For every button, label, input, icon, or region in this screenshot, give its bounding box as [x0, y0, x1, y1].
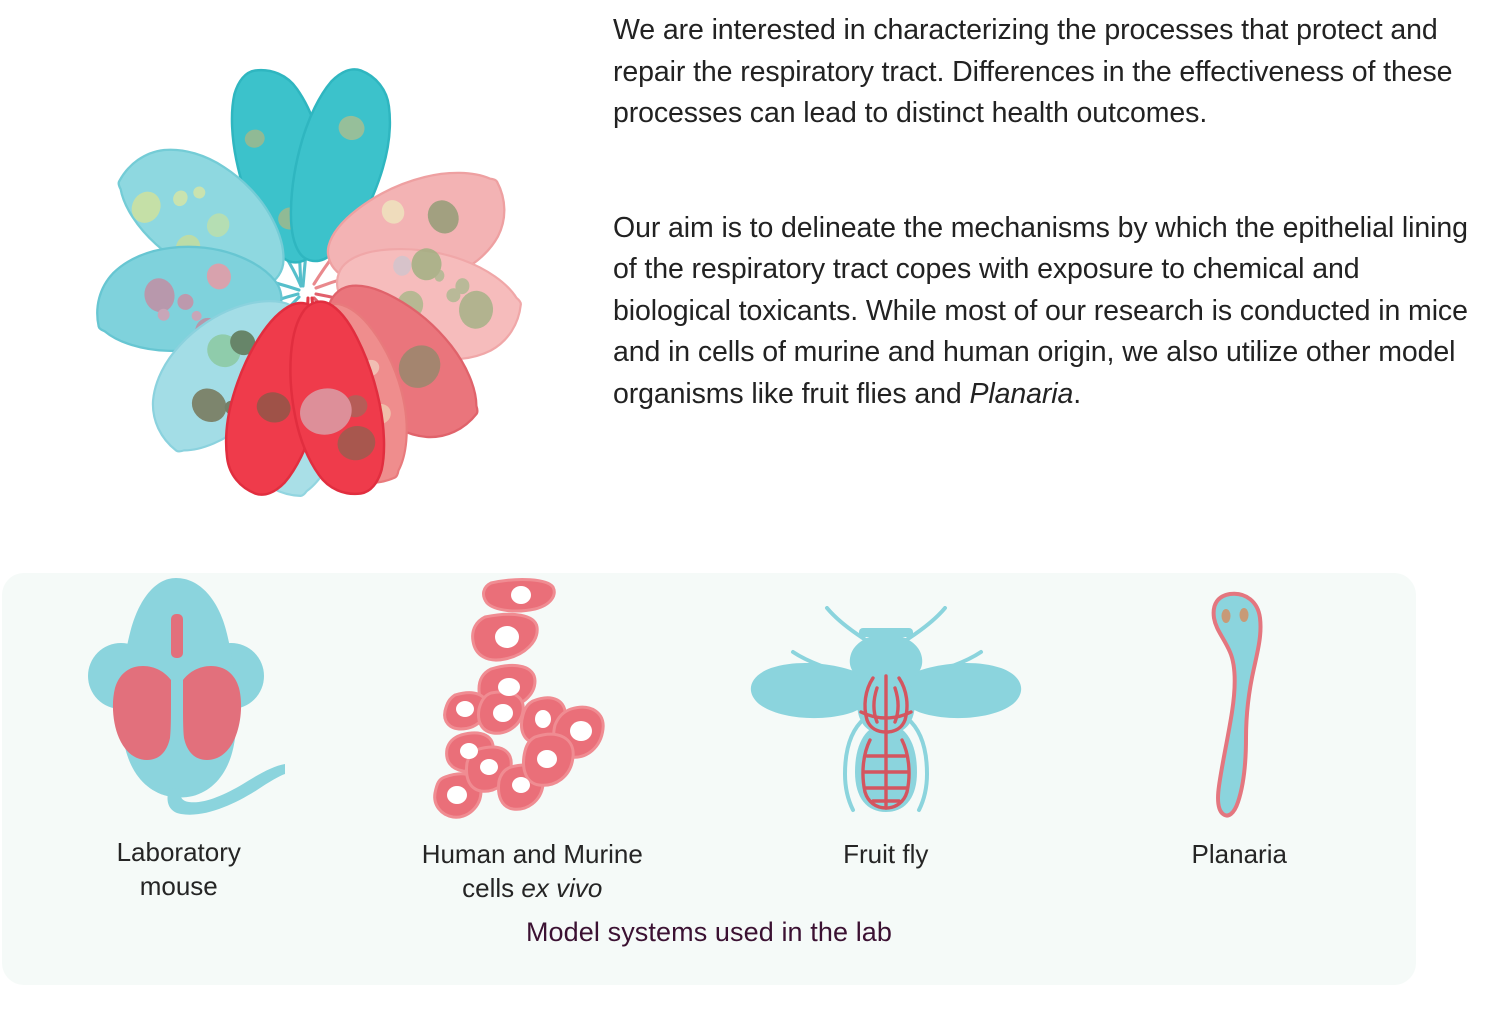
model-item-label: Planaria — [1192, 837, 1287, 871]
lung-flower-figure — [18, 0, 598, 566]
model-item-fruit-fly: Fruit fly — [709, 573, 1063, 903]
planaria-body — [1214, 594, 1261, 816]
model-item-planaria: Planaria — [1063, 573, 1417, 903]
label-line-1: Planaria — [1192, 839, 1287, 869]
laboratory-mouse-icon — [2, 573, 356, 823]
label-line-2: cells — [462, 873, 521, 903]
model-item-label: Fruit fly — [843, 837, 928, 871]
label-line-2: mouse — [140, 871, 218, 901]
model-systems-grid: Laboratorymouse — [2, 573, 1416, 903]
planaria-icon — [1063, 573, 1417, 825]
model-item-human-murine-cells: Human and Murinecells ex vivo — [356, 573, 710, 903]
model-systems-panel: Laboratorymouse — [2, 573, 1416, 985]
intro-paragraph-2-period: . — [1073, 378, 1081, 410]
model-item-label: Laboratorymouse — [117, 835, 241, 903]
model-item-label: Human and Murinecells ex vivo — [422, 837, 643, 905]
poster-root: We are interested in characterizing the … — [0, 0, 1501, 1016]
intro-text-column: We are interested in characterizing the … — [613, 10, 1473, 415]
model-item-laboratory-mouse: Laboratorymouse — [2, 573, 356, 903]
planaria-genus-italic: Planaria — [969, 378, 1073, 410]
label-line-1: Human and Murine — [422, 839, 643, 869]
label-line-2-italic: ex vivo — [521, 873, 602, 903]
cultured-cells-icon — [356, 573, 710, 825]
intro-paragraph-2: Our aim is to delineate the mechanisms b… — [613, 208, 1473, 416]
label-line-1: Laboratory — [117, 837, 241, 867]
intro-paragraph-1: We are interested in characterizing the … — [613, 10, 1473, 135]
fruit-fly-icon — [709, 573, 1063, 825]
label-line-1: Fruit fly — [843, 839, 928, 869]
model-panel-caption: Model systems used in the lab — [2, 917, 1416, 948]
